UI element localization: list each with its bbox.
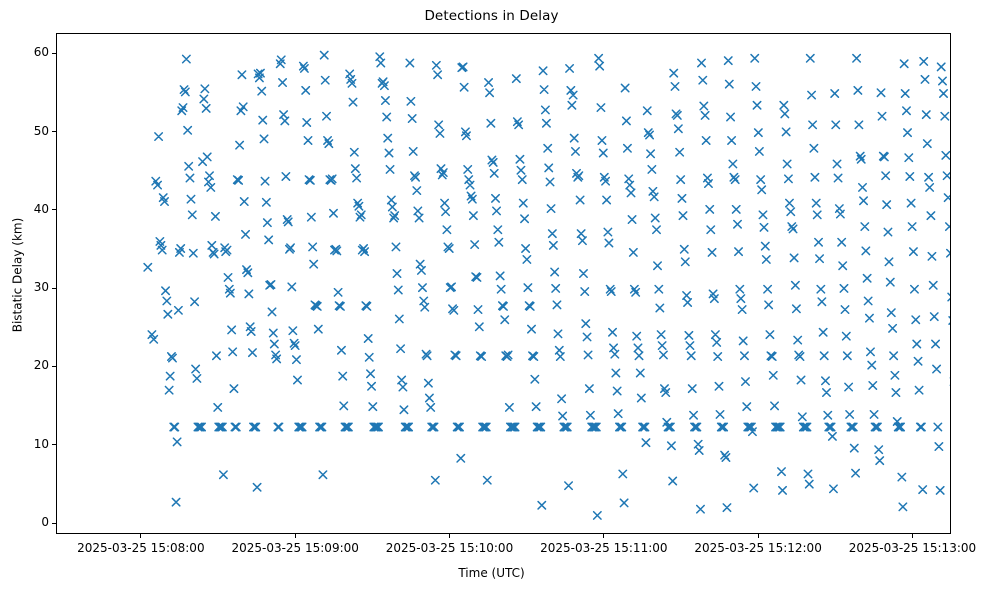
y-tick-label: 40 [34,202,49,216]
x-tick-mark [758,534,759,538]
x-tick-label: 2025-03-25 15:12:00 [694,541,821,555]
x-tick-mark [449,534,450,538]
y-tick-mark [52,288,56,289]
y-tick-label: 60 [34,45,49,59]
y-axis-label: Bistatic Delay (km) [11,25,25,526]
y-tick-mark [52,523,56,524]
y-tick-label: 20 [34,358,49,372]
y-tick-mark [52,53,56,54]
y-tick-label: 10 [34,437,49,451]
x-tick-label: 2025-03-25 15:11:00 [540,541,667,555]
y-tick-mark [52,131,56,132]
x-axis-label: Time (UTC) [0,566,983,580]
scatter-series [57,34,951,534]
plot-area [56,33,951,534]
x-tick-mark [295,534,296,538]
y-tick-mark [52,209,56,210]
x-tick-label: 2025-03-25 15:08:00 [77,541,204,555]
y-tick-mark [52,444,56,445]
page-title: Detections in Delay [0,8,983,24]
y-tick-label: 0 [41,515,49,529]
x-tick-label: 2025-03-25 15:10:00 [386,541,513,555]
y-tick-mark [52,366,56,367]
x-tick-mark [912,534,913,538]
x-tick-mark [603,534,604,538]
matplotlib-figure: Detections in Delay Bistatic Delay (km) … [0,0,983,590]
x-tick-label: 2025-03-25 15:13:00 [849,541,976,555]
y-tick-label: 30 [34,280,49,294]
y-tick-label: 50 [34,124,49,138]
x-tick-label: 2025-03-25 15:09:00 [231,541,358,555]
x-tick-mark [140,534,141,538]
